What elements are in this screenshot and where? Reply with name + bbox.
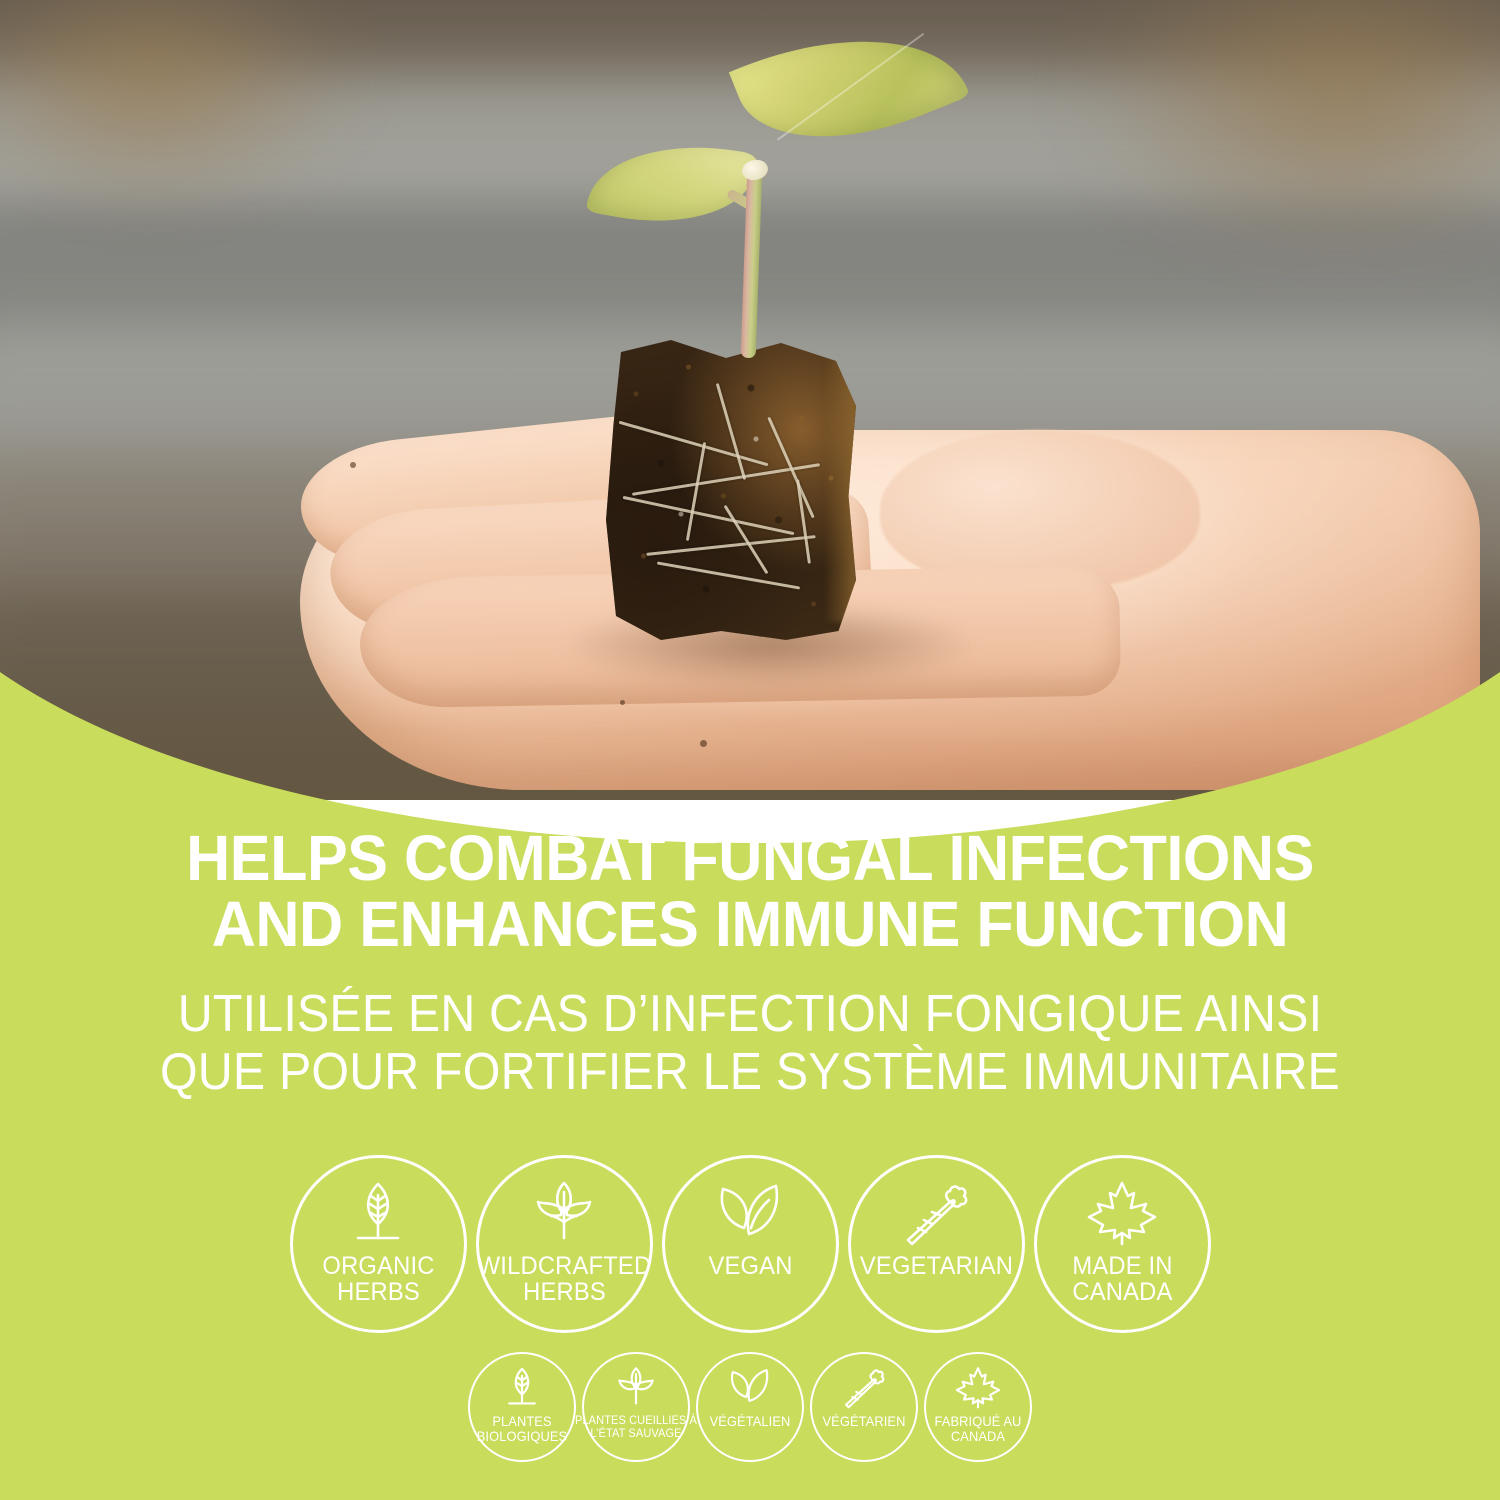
badge-label: PLANTES CUEILLIES À L’ÉTAT SAUVAGE <box>568 1414 704 1439</box>
organic-herbs-icon <box>342 1180 414 1254</box>
badge-wildcrafted-herbs: WILDCRAFTED HERBS <box>476 1155 653 1333</box>
badge-plantes-biologiques: PLANTES BIOLOGIQUES <box>468 1352 576 1462</box>
badge-fabrique-au-canada: FABRIQUÉ AU CANADA <box>924 1352 1032 1462</box>
badge-label: VEGAN <box>663 1254 837 1280</box>
maple-leaf-icon <box>1086 1180 1158 1254</box>
badge-vegan: VEGAN <box>662 1155 839 1333</box>
subheadline-line-2: QUE POUR FORTIFIER LE SYSTÈME IMMUNITAIR… <box>53 1046 1448 1098</box>
vegan-leaves-icon <box>727 1366 773 1414</box>
badge-label: MADE IN CANADA <box>1035 1254 1209 1305</box>
vegan-leaves-icon <box>714 1180 786 1254</box>
badge-label: VÉGÉTARIEN <box>801 1414 926 1429</box>
badge-plantes-cueillies: PLANTES CUEILLIES À L’ÉTAT SAUVAGE <box>582 1352 690 1462</box>
badge-made-in-canada: MADE IN CANADA <box>1034 1155 1211 1333</box>
panel-content: HELPS COMBAT FUNGAL INFECTIONS AND ENHAN… <box>0 0 1500 1500</box>
badge-vegetalien: VÉGÉTALIEN <box>696 1352 804 1462</box>
subheadline-line-1: UTILISÉE EN CAS D’INFECTION FONGIQUE AIN… <box>53 988 1448 1040</box>
badge-label: VEGETARIAN <box>849 1254 1023 1280</box>
badge-organic-herbs: ORGANIC HERBS <box>290 1155 467 1333</box>
badge-label: FABRIQUÉ AU CANADA <box>915 1414 1040 1443</box>
badge-vegetarien: VÉGÉTARIEN <box>810 1352 918 1462</box>
badge-label: WILDCRAFTED HERBS <box>477 1254 651 1305</box>
wildcrafted-herbs-icon <box>528 1180 600 1254</box>
organic-herbs-icon <box>499 1366 545 1414</box>
vegetarian-carrot-icon <box>900 1180 972 1254</box>
vegetarian-carrot-icon <box>841 1366 887 1414</box>
badge-label: ORGANIC HERBS <box>291 1254 465 1305</box>
maple-leaf-icon <box>955 1366 1001 1414</box>
certification-badges-english: ORGANIC HERBS WILDCRAFTED HERBS <box>0 1155 1500 1333</box>
badge-label: PLANTES BIOLOGIQUES <box>459 1414 584 1443</box>
badge-vegetarian: VEGETARIAN <box>848 1155 1025 1333</box>
headline-line-1: HELPS COMBAT FUNGAL INFECTIONS <box>34 828 1467 889</box>
headline-line-2: AND ENHANCES IMMUNE FUNCTION <box>34 894 1467 955</box>
wildcrafted-herbs-icon <box>613 1366 659 1414</box>
product-marketing-image: HELPS COMBAT FUNGAL INFECTIONS AND ENHAN… <box>0 0 1500 1500</box>
certification-badges-french: PLANTES BIOLOGIQUES PLANTES CUEILLIES À … <box>0 1352 1500 1462</box>
badge-label: VÉGÉTALIEN <box>687 1414 812 1429</box>
